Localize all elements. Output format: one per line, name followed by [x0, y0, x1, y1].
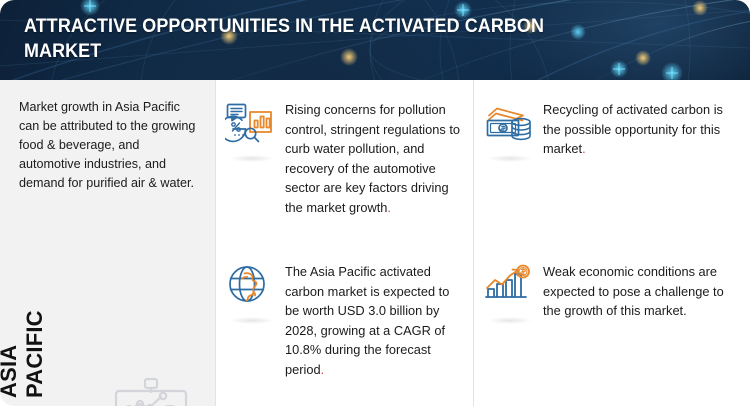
growth-bar-chart-dollar-icon — [483, 262, 537, 324]
report-analysis-icon — [225, 100, 279, 162]
icon-shadow — [488, 155, 532, 162]
cards-area: Rising concerns for pollution control, s… — [215, 80, 750, 406]
icon-shadow — [488, 317, 532, 324]
card-text: Weak economic conditions are expected to… — [543, 262, 735, 321]
left-panel-description: Market growth in Asia Pacific can be att… — [19, 98, 197, 193]
infographic-root: Attractive Opportunities in the Activate… — [0, 0, 750, 406]
page-title: Attractive Opportunities in the Activate… — [24, 14, 576, 64]
money-cash-coins-icon — [483, 100, 537, 162]
card-trailing-mark: . — [321, 362, 325, 377]
card-text: Rising concerns for pollution control, s… — [285, 100, 467, 217]
divider-left — [215, 80, 216, 406]
region-label-line2: PACIFIC — [22, 310, 48, 398]
header-banner: Attractive Opportunities in the Activate… — [0, 0, 750, 80]
card-pollution-control: Rising concerns for pollution control, s… — [225, 100, 469, 217]
icon-shadow — [230, 155, 274, 162]
card-economic-challenge: Weak economic conditions are expected to… — [483, 262, 745, 324]
left-region-panel: Market growth in Asia Pacific can be att… — [0, 80, 215, 406]
card-market-forecast: The Asia Pacific activated carbon market… — [225, 262, 469, 379]
region-label-line1: ASIA — [0, 345, 22, 398]
card-body: Recycling of activated carbon is the pos… — [543, 102, 723, 156]
card-body: The Asia Pacific activated carbon market… — [285, 264, 449, 377]
card-text: The Asia Pacific activated carbon market… — [285, 262, 467, 379]
divider-middle — [473, 80, 474, 406]
card-body: Rising concerns for pollution control, s… — [285, 102, 460, 215]
card-recycling-opportunity: Recycling of activated carbon is the pos… — [483, 100, 745, 162]
card-trailing-mark: . — [582, 141, 586, 156]
region-label: ASIA PACIFIC — [0, 324, 102, 398]
globe-icon — [225, 262, 279, 324]
presentation-chart-magnifier-icon — [108, 376, 200, 406]
card-text: Recycling of activated carbon is the pos… — [543, 100, 739, 159]
card-body: Weak economic conditions are expected to… — [543, 264, 724, 318]
card-trailing-mark: . — [387, 200, 391, 215]
icon-shadow — [230, 317, 274, 324]
